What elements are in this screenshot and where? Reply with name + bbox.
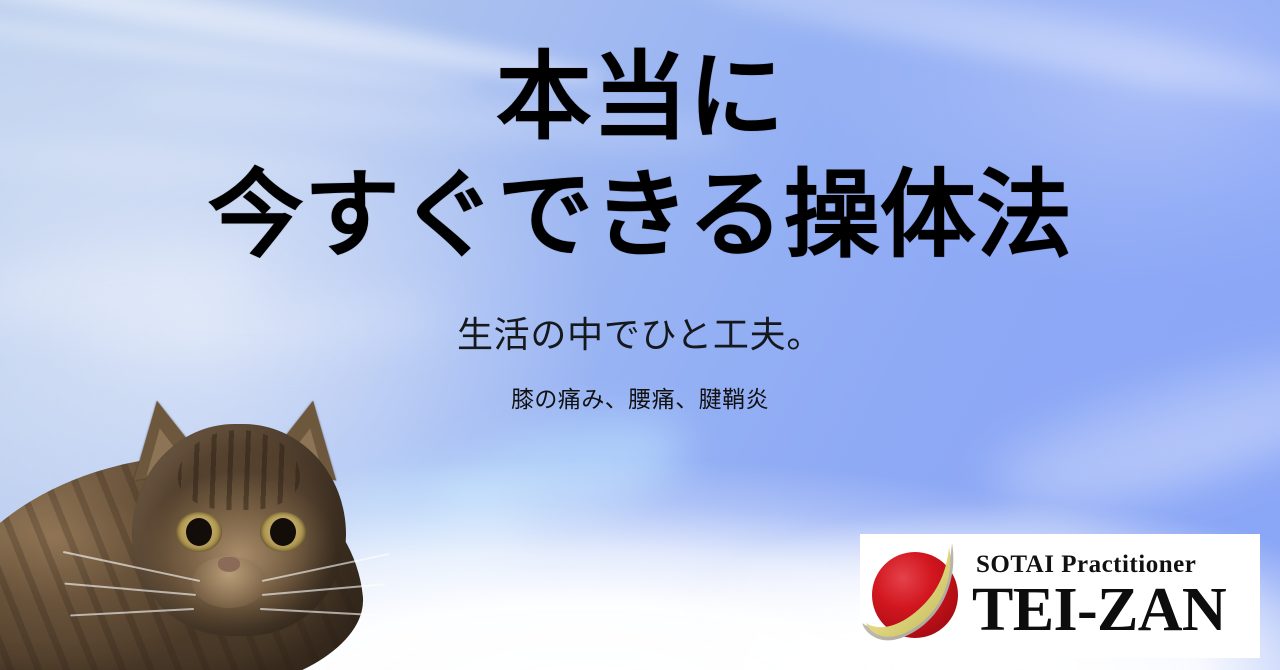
cat-pupil-left bbox=[186, 518, 212, 546]
logo: SOTAI Practitioner TEI-ZAN bbox=[860, 534, 1260, 658]
promotional-banner: 本当に 今すぐできる操体法 生活の中でひと工夫。 膝の痛み、腰痛、腱鞘炎 bbox=[0, 0, 1280, 670]
logo-name: TEI-ZAN bbox=[972, 579, 1226, 641]
headline-line-2: 今すぐできる操体法 bbox=[0, 164, 1280, 268]
cat-photo bbox=[0, 370, 432, 670]
cat-pupil-right bbox=[270, 518, 296, 546]
headline: 本当に 今すぐできる操体法 bbox=[0, 46, 1280, 267]
logo-subtitle: SOTAI Practitioner bbox=[976, 552, 1226, 577]
tagline: 膝の痛み、腰痛、腱鞘炎 bbox=[0, 380, 1280, 414]
cat-nose bbox=[218, 557, 240, 572]
subtitle: 生活の中でひと工夫。 bbox=[0, 306, 1280, 358]
headline-line-1: 本当に bbox=[0, 46, 1280, 150]
sotai-logo-mark-icon bbox=[860, 537, 978, 655]
logo-text: SOTAI Practitioner TEI-ZAN bbox=[972, 552, 1226, 641]
